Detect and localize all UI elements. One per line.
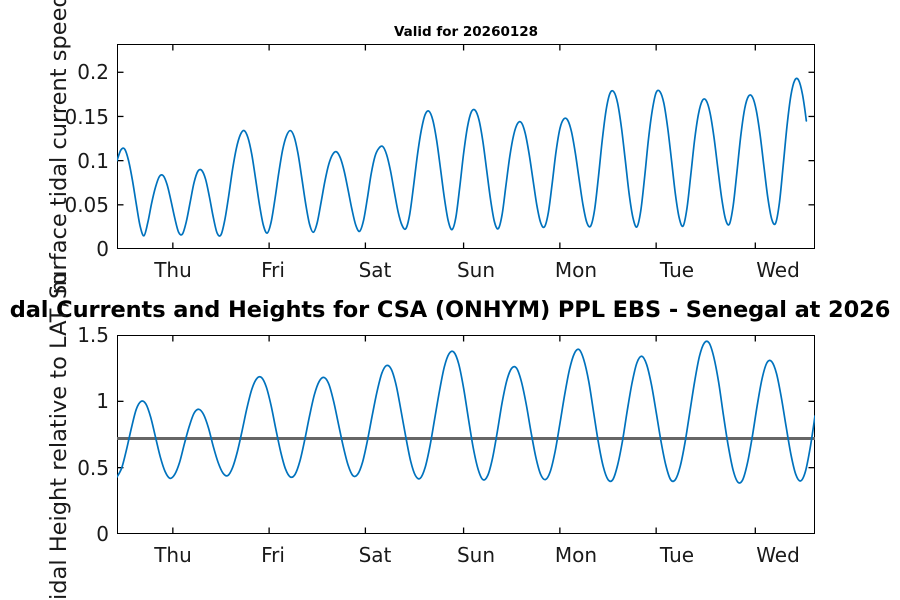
figure-canvas: Valid for 20260128 Surface tidal current…	[0, 0, 900, 600]
tidal-height-plot-area	[0, 0, 900, 600]
